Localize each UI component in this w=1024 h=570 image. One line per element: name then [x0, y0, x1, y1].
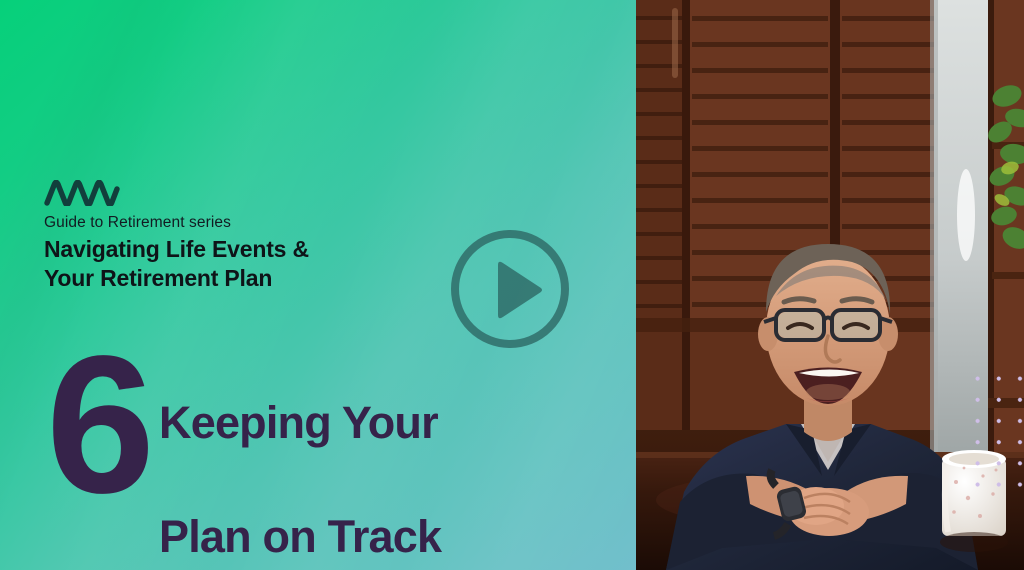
- brand-block: Guide to Retirement series Navigating Li…: [44, 180, 444, 293]
- episode-headline-line-1: Keeping Your: [159, 397, 438, 448]
- play-triangle-icon: [498, 262, 542, 318]
- episode-headline: Keeping Your Plan on Track Through Chang…: [159, 337, 532, 570]
- video-thumbnail-card[interactable]: Guide to Retirement series Navigating Li…: [0, 0, 1024, 570]
- zigzag-wave-logo: [44, 180, 120, 206]
- presenter-photo: [636, 0, 1024, 570]
- series-title: Navigating Life Events & Your Retirement…: [44, 235, 444, 293]
- series-title-line-1: Navigating Life Events &: [44, 236, 309, 262]
- series-label: Guide to Retirement series: [44, 213, 444, 232]
- episode-block: 6 Keeping Your Plan on Track Through Cha…: [46, 330, 532, 570]
- series-title-line-2: Your Retirement Plan: [44, 265, 272, 291]
- play-button[interactable]: [448, 227, 572, 351]
- photo-mug: [940, 450, 1008, 552]
- episode-headline-line-2: Plan on Track: [159, 511, 441, 562]
- episode-number: 6: [46, 330, 159, 520]
